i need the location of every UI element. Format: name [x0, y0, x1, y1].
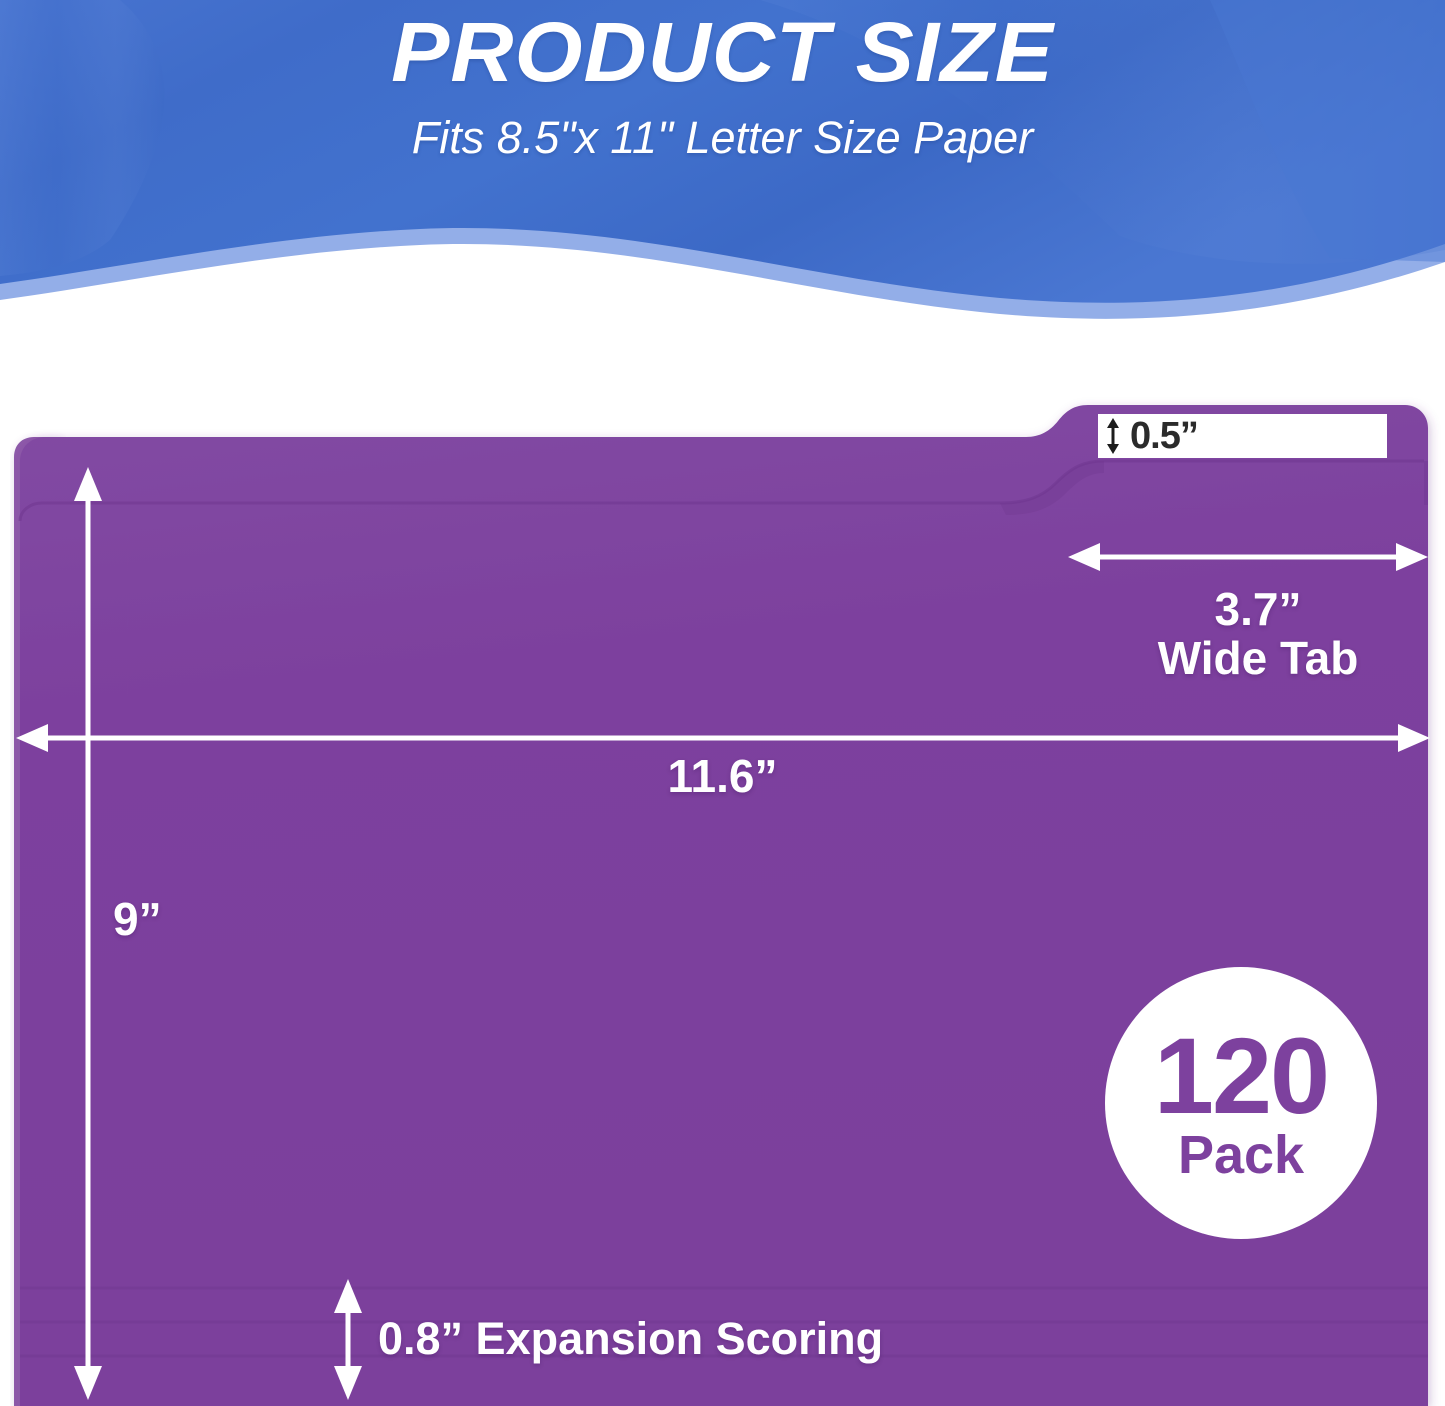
tab-label-box: 0.5”	[1098, 414, 1387, 458]
file-folder-illustration	[0, 395, 1445, 1406]
tab-height-value: 0.5”	[1130, 417, 1198, 455]
pack-count-value: 120	[1154, 1026, 1328, 1125]
expansion-scoring-label: 0.8” Expansion Scoring	[378, 1315, 883, 1363]
pack-count-badge: 120 Pack	[1105, 967, 1377, 1239]
tab-height-arrow-icon	[1098, 414, 1128, 458]
folder-width-label: 11.6”	[0, 752, 1445, 801]
infographic-canvas: PRODUCT SIZE Fits 8.5"x 11" Letter Size …	[0, 0, 1445, 1406]
tab-width-label: 3.7” Wide Tab	[1108, 585, 1408, 683]
header-banner: PRODUCT SIZE Fits 8.5"x 11" Letter Size …	[0, 0, 1445, 340]
page-subtitle: Fits 8.5"x 11" Letter Size Paper	[0, 112, 1445, 164]
folder-height-label: 9”	[113, 895, 162, 944]
pack-count-unit: Pack	[1178, 1128, 1304, 1182]
tab-width-value: 3.7”	[1215, 583, 1302, 635]
tab-width-caption: Wide Tab	[1158, 632, 1359, 684]
page-title: PRODUCT SIZE	[0, 8, 1445, 96]
